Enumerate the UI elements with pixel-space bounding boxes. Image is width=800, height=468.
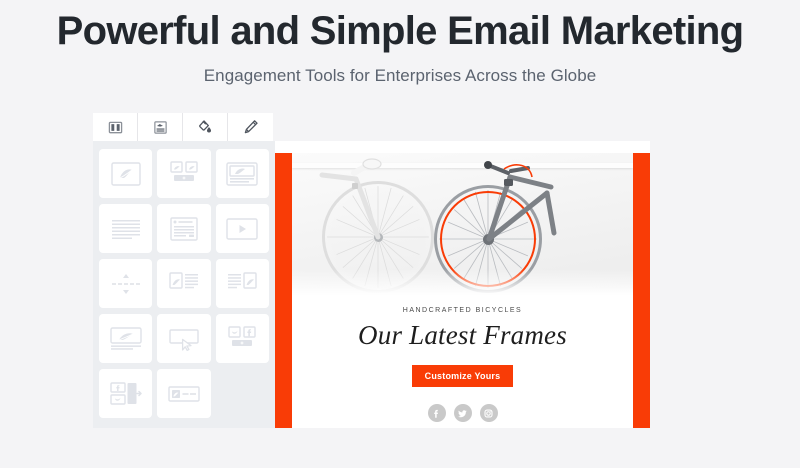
- canvas-top-strip: [275, 141, 650, 153]
- image-caption-widget-icon: [226, 162, 258, 186]
- image-text-block-widget-icon: [110, 327, 142, 351]
- hero-header: Powerful and Simple Email Marketing Enga…: [0, 0, 800, 86]
- content-blocks-icon: [153, 120, 168, 135]
- button-widget-icon: [168, 327, 200, 351]
- widget-text-left-image[interactable]: [216, 259, 269, 308]
- photo-fade-overlay: [292, 269, 633, 303]
- widget-sidebar: [93, 141, 275, 428]
- widget-image-text-block[interactable]: [99, 314, 152, 363]
- twitter-share-button[interactable]: [454, 404, 472, 422]
- bicycle-photo: [292, 153, 633, 303]
- image-widget-icon: [111, 162, 141, 186]
- image-left-text-widget-icon: [169, 272, 199, 296]
- widget-text[interactable]: [99, 204, 152, 253]
- widget-logo-header[interactable]: [157, 369, 210, 418]
- widget-image[interactable]: [99, 149, 152, 198]
- facebook-share-button[interactable]: [428, 404, 446, 422]
- twitter-icon: [457, 408, 468, 419]
- image-group-widget-icon: [169, 161, 199, 187]
- page-title: Powerful and Simple Email Marketing: [0, 8, 800, 54]
- email-card: HANDCRAFTED BICYCLES Our Latest Frames C…: [292, 153, 633, 428]
- logo-header-widget-icon: [168, 386, 200, 402]
- email-canvas[interactable]: HANDCRAFTED BICYCLES Our Latest Frames C…: [275, 141, 650, 428]
- email-eyebrow: HANDCRAFTED BICYCLES: [292, 307, 633, 314]
- email-body: HANDCRAFTED BICYCLES Our Latest Frames C…: [275, 153, 650, 428]
- social-icons-widget-icon: [227, 326, 257, 352]
- text-article-widget-icon: [170, 217, 198, 241]
- page-subtitle: Engagement Tools for Enterprises Across …: [0, 66, 800, 86]
- instagram-share-button[interactable]: [480, 404, 498, 422]
- photo-shelf: [292, 163, 633, 168]
- widget-image-group[interactable]: [157, 149, 210, 198]
- facebook-icon: [431, 408, 442, 419]
- social-share-widget-icon: [110, 381, 142, 407]
- text-left-image-widget-icon: [227, 272, 257, 296]
- widget-video[interactable]: [216, 204, 269, 253]
- toolbar-tab-edit[interactable]: [228, 113, 273, 141]
- text-widget-icon: [111, 218, 141, 240]
- widget-grid: [99, 149, 269, 418]
- toolbar-tab-layout[interactable]: [93, 113, 138, 141]
- spacer-widget-icon: [110, 272, 142, 296]
- widget-social-icons[interactable]: [216, 314, 269, 363]
- video-widget-icon: [226, 218, 258, 240]
- widget-button[interactable]: [157, 314, 210, 363]
- email-builder: HANDCRAFTED BICYCLES Our Latest Frames C…: [93, 113, 650, 428]
- email-headline: Our Latest Frames: [292, 320, 633, 351]
- toolbar-tab-content[interactable]: [138, 113, 183, 141]
- widget-spacer[interactable]: [99, 259, 152, 308]
- pencil-icon: [243, 119, 259, 135]
- toolbar-tab-styles[interactable]: [183, 113, 228, 141]
- white-wheel-hub: [374, 233, 383, 242]
- widget-image-caption[interactable]: [216, 149, 269, 198]
- widget-article[interactable]: [157, 204, 210, 253]
- paint-bucket-icon: [197, 119, 213, 135]
- dark-wheel-hub: [483, 234, 494, 245]
- instagram-icon: [483, 408, 494, 419]
- builder-toolbar: [93, 113, 273, 141]
- customize-yours-button[interactable]: Customize Yours: [412, 365, 514, 387]
- email-social-row: [292, 404, 633, 422]
- columns-layout-icon: [108, 120, 123, 135]
- widget-image-left-text[interactable]: [157, 259, 210, 308]
- email-text-block: HANDCRAFTED BICYCLES Our Latest Frames C…: [292, 303, 633, 428]
- widget-social-share[interactable]: [99, 369, 152, 418]
